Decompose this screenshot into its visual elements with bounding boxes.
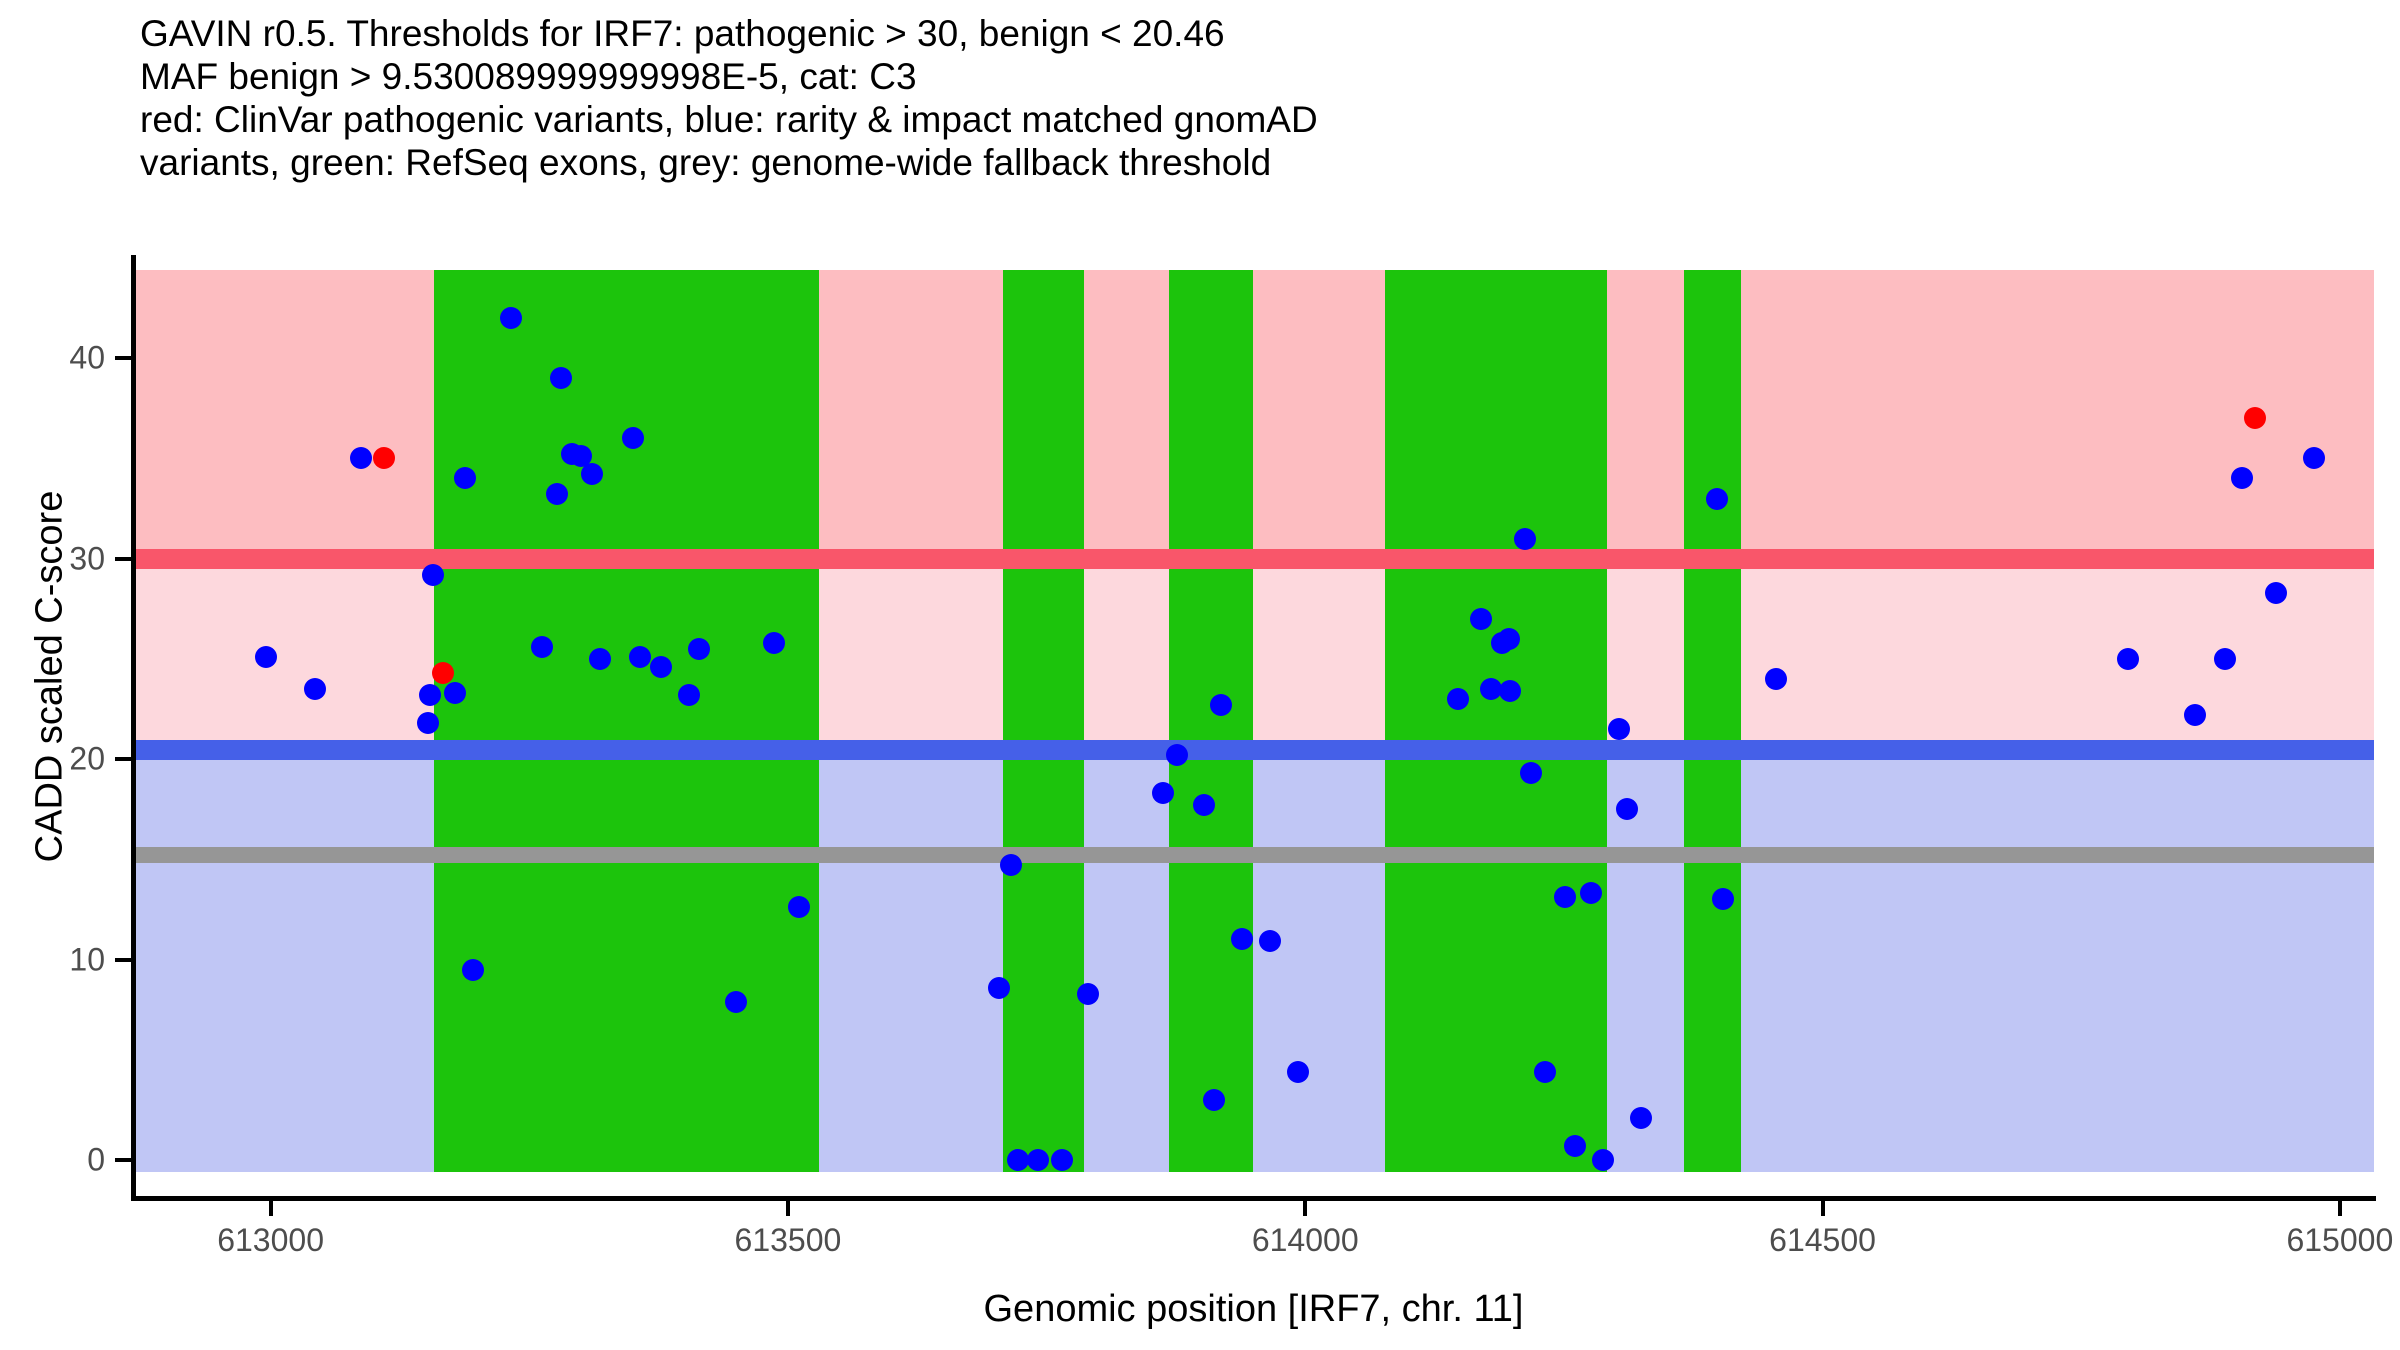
gnomad-point (462, 959, 484, 981)
exon-band (1684, 270, 1741, 1172)
gnomad-point (1203, 1089, 1225, 1111)
title-line-3: red: ClinVar pathogenic variants, blue: … (140, 98, 2260, 141)
x-tick (2338, 1200, 2342, 1216)
gnomad-point (678, 684, 700, 706)
y-axis-title-wrap: CADD scaled C-score (0, 0, 60, 1350)
gnomad-point (650, 656, 672, 678)
gnomad-point (2184, 704, 2206, 726)
gnomad-point (1193, 794, 1215, 816)
gnomad-point (1765, 668, 1787, 690)
gnomad-point (1166, 744, 1188, 766)
y-tick (115, 557, 131, 561)
gnomad-point (1630, 1107, 1652, 1129)
clinvar-point (373, 447, 395, 469)
gnomad-point (1287, 1061, 1309, 1083)
exon-band (1385, 270, 1607, 1172)
clinvar-point (2244, 407, 2266, 429)
exon-band (434, 270, 819, 1172)
y-tick-label: 0 (87, 1141, 105, 1178)
gnomad-point (1499, 680, 1521, 702)
gnomad-point (1706, 488, 1728, 510)
x-axis-title: Genomic position [IRF7, chr. 11] (133, 1288, 2374, 1331)
gnomad-point (1051, 1149, 1073, 1171)
gnomad-point (788, 896, 810, 918)
gnomad-point (1210, 694, 1232, 716)
x-tick (786, 1200, 790, 1216)
y-tick (115, 958, 131, 962)
gnomad-point (550, 367, 572, 389)
gnomad-point (1152, 782, 1174, 804)
benign-threshold-line (133, 740, 2374, 760)
chart-title-block: GAVIN r0.5. Thresholds for IRF7: pathoge… (140, 12, 2260, 184)
x-tick (1821, 1200, 1825, 1216)
y-tick (115, 356, 131, 360)
chart-root: GAVIN r0.5. Thresholds for IRF7: pathoge… (0, 0, 2400, 1350)
gnomad-point (1498, 628, 1520, 650)
gnomad-point (1470, 608, 1492, 630)
y-tick-label: 40 (69, 340, 105, 377)
gnomad-point (1564, 1135, 1586, 1157)
gnomad-point (1447, 688, 1469, 710)
gnomad-point (1592, 1149, 1614, 1171)
gnomad-point (1616, 798, 1638, 820)
x-tick (1303, 1200, 1307, 1216)
gnomad-point (531, 636, 553, 658)
gnomad-point (725, 991, 747, 1013)
gnomad-point (422, 564, 444, 586)
x-tick-label: 613000 (217, 1222, 324, 1259)
y-tick (115, 1158, 131, 1162)
gnomad-point (546, 483, 568, 505)
gnomad-point (1712, 888, 1734, 910)
gnomad-point (255, 646, 277, 668)
gnomad-point (581, 463, 603, 485)
y-tick (115, 757, 131, 761)
gnomad-point (589, 648, 611, 670)
title-line-2: MAF benign > 9.530089999999998E-5, cat: … (140, 55, 2260, 98)
clinvar-point (432, 662, 454, 684)
gnomad-point (444, 682, 466, 704)
fallback-threshold-line (133, 847, 2374, 863)
x-tick-label: 614500 (1769, 1222, 1876, 1259)
gnomad-point (1259, 930, 1281, 952)
gnomad-point (2265, 582, 2287, 604)
gnomad-point (1231, 928, 1253, 950)
exon-band (1169, 270, 1254, 1172)
gnomad-point (2231, 467, 2253, 489)
y-axis-title: CADD scaled C-score (29, 327, 72, 1027)
gnomad-point (988, 977, 1010, 999)
pathogenic-threshold-line (133, 549, 2374, 569)
y-tick-label: 20 (69, 741, 105, 778)
gnomad-point (1520, 762, 1542, 784)
title-line-1: GAVIN r0.5. Thresholds for IRF7: pathoge… (140, 12, 2260, 55)
y-axis-line (131, 255, 136, 1200)
title-line-4: variants, green: RefSeq exons, grey: gen… (140, 141, 2260, 184)
x-tick-label: 614000 (1252, 1222, 1359, 1259)
gnomad-point (304, 678, 326, 700)
gnomad-point (1027, 1149, 1049, 1171)
exon-band (1003, 270, 1084, 1172)
gnomad-point (763, 632, 785, 654)
gnomad-point (2303, 447, 2325, 469)
gnomad-point (1554, 886, 1576, 908)
gnomad-point (1007, 1149, 1029, 1171)
gnomad-point (629, 646, 651, 668)
gnomad-point (419, 684, 441, 706)
gnomad-point (688, 638, 710, 660)
x-tick-label: 613500 (735, 1222, 842, 1259)
gnomad-point (350, 447, 372, 469)
gnomad-point (454, 467, 476, 489)
gnomad-point (622, 427, 644, 449)
gnomad-point (500, 307, 522, 329)
x-tick (269, 1200, 273, 1216)
plot-panel (133, 270, 2374, 1172)
x-axis-line (131, 1196, 2376, 1201)
gnomad-point (1077, 983, 1099, 1005)
gnomad-point (1514, 528, 1536, 550)
gnomad-point (1534, 1061, 1556, 1083)
y-tick-label: 30 (69, 540, 105, 577)
x-tick-label: 615000 (2286, 1222, 2393, 1259)
gnomad-point (1580, 882, 1602, 904)
y-tick-label: 10 (69, 941, 105, 978)
gnomad-point (2214, 648, 2236, 670)
gnomad-point (1608, 718, 1630, 740)
gnomad-point (417, 712, 439, 734)
gnomad-point (1000, 854, 1022, 876)
gnomad-point (2117, 648, 2139, 670)
